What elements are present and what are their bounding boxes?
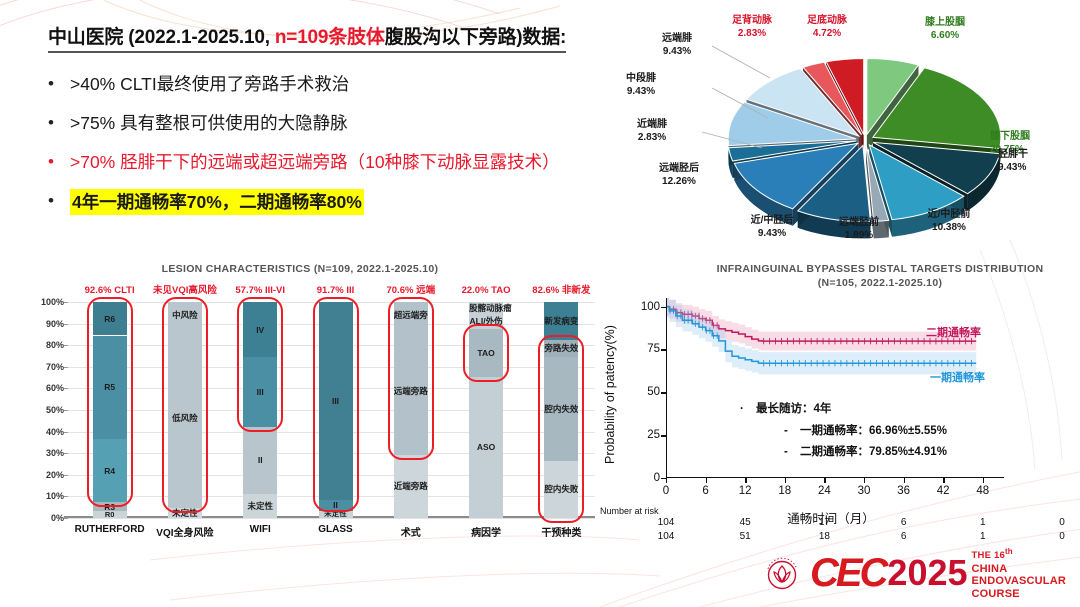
- bar-segment-label: III: [319, 396, 353, 406]
- axis-tick: [64, 432, 68, 433]
- km-x-tick: 42: [937, 485, 950, 497]
- km-y-axis-title: Probability of patency(%): [602, 300, 618, 490]
- lesion-characteristics-bar-chart: 100%90%80%70%60%50%40%30%20%10%0% 92.6% …: [30, 288, 595, 550]
- bar-chart-x-tick: 病因学: [471, 524, 501, 539]
- bar-chart-x-tick: 干预种类: [541, 524, 581, 539]
- pie-label-胫腓干: 胫腓干9.43%: [998, 148, 1068, 174]
- bullet-text-highlighted: 4年一期通畅率70%，二期通畅率80%: [70, 189, 364, 215]
- bar-top-label: 92.6% CLTI: [85, 285, 135, 296]
- bar-segment: III: [319, 302, 353, 500]
- bullet-text: >70% 胫腓干下的远端或超远端旁路（10种膝下动脉显露技术）: [70, 150, 560, 174]
- bar-segment: 腔内失败: [544, 461, 578, 518]
- bar-segment: 未定性: [168, 508, 202, 518]
- bar-chart-y-tick: 0%: [30, 513, 64, 523]
- bar-segment: II: [319, 500, 353, 511]
- km-x-tick: 24: [818, 485, 831, 497]
- km-x-tickmark: [983, 478, 984, 483]
- bar-chart-x-tick: VQI全身风险: [156, 524, 213, 539]
- number-at-risk-cell: 1: [980, 531, 986, 542]
- bar-segment-label: 低风险: [168, 413, 202, 423]
- km-y-tickmark: [661, 307, 666, 308]
- bar-segment: ASO: [469, 377, 503, 518]
- cec-logo: CEC 2025 THE 16th CHINA ENDOVASCULAR COU…: [760, 547, 1066, 599]
- bar-segment: R6: [93, 302, 127, 335]
- number-at-risk-cell: 0: [1059, 531, 1065, 542]
- bar-top-label: 22.0% TAO: [462, 285, 511, 296]
- logo-year: 2025: [887, 553, 967, 593]
- axis-tick: [64, 367, 68, 368]
- pie-label-name: 膝上股腘: [925, 17, 965, 28]
- bar-chart-y-tick: 50%: [30, 405, 64, 415]
- bar-segment: TAO: [469, 329, 503, 377]
- lotus-emblem-icon: [760, 551, 804, 595]
- bar-top-label: 57.7% III-VI: [235, 285, 285, 296]
- km-annotation-line2: -一期通畅率：66.96%±5.55%: [740, 422, 947, 438]
- bar-chart-y-tick: 10%: [30, 491, 64, 501]
- km-x-tickmark: [904, 478, 905, 483]
- km-y-tick: 100: [641, 301, 660, 313]
- pie-label-name: 膝下股腘: [990, 131, 1030, 142]
- km-legend-secondary: 二期通畅率: [926, 324, 981, 340]
- bar-segment-label: 腔内失败: [544, 484, 578, 494]
- axis-tick: [64, 496, 68, 497]
- bar-segment-label: II: [243, 455, 277, 465]
- bar-segment-label: II: [319, 500, 353, 510]
- bar-segment: 新发病变: [544, 302, 578, 340]
- bar-chart-plot-area: 92.6% CLTIR0R3R4R5R6未见VQI高风险未定性低风险中风险57.…: [68, 302, 595, 518]
- pie-label-远端胫前: 远端胫前1.89%: [822, 216, 896, 242]
- number-at-risk-title: Number at risk: [600, 506, 659, 516]
- bar-segment-label: 新发病变: [544, 316, 578, 326]
- bar-segment: 腔内失效: [544, 357, 578, 461]
- bar-segment-label: IV: [243, 325, 277, 335]
- bar-segment-label: 腔内失效: [544, 404, 578, 414]
- bar-chart-y-tick: 90%: [30, 319, 64, 329]
- pie-label-percent: 6.60%: [905, 29, 985, 42]
- bar-segment: R4: [93, 439, 127, 502]
- bullet-marker: •: [48, 72, 70, 96]
- bar-segment: 股髂动脉瘤: [469, 302, 503, 314]
- number-at-risk-cell: 51: [740, 531, 751, 542]
- pie-label-percent: 10.38%: [908, 221, 990, 234]
- bar-chart-x-axis-labels: RUTHERFORDVQI全身风险WIFIGLASS术式病因学干预种类: [68, 524, 595, 544]
- list-item: • >40% CLTI最终使用了旁路手术救治: [48, 72, 668, 96]
- logo-line2: ENDOVASCULAR: [972, 575, 1066, 588]
- list-item: • >75% 具有整根可供使用的大隐静脉: [48, 111, 668, 135]
- bar-chart-y-tick: 60%: [30, 383, 64, 393]
- bar-segment: 近端旁路: [394, 455, 428, 519]
- pie-label-percent: 4.72%: [790, 27, 864, 40]
- pie-caption-line1: INFRAINGUINAL BYPASSES DISTAL TARGETS DI…: [690, 262, 1070, 276]
- km-y-tick: 75: [647, 343, 660, 355]
- bar-chart-caption: LESION CHARACTERISTICS (N=109, 2022.1-20…: [120, 262, 480, 276]
- bar-segment-label: R5: [93, 382, 127, 392]
- km-y-tickmark: [661, 435, 666, 436]
- km-y-axis-line: [666, 298, 667, 478]
- number-at-risk-cell: 18: [819, 531, 830, 542]
- list-item: • 4年一期通畅率70%，二期通畅率80%: [48, 189, 668, 215]
- bar-chart-y-tick: 20%: [30, 470, 64, 480]
- bar-chart-y-tick: 100%: [30, 297, 64, 307]
- logo-subtitle: THE 16th CHINA ENDOVASCULAR COURSE: [972, 546, 1066, 600]
- bar-segment: R5: [93, 336, 127, 440]
- bar-segment-label: 远端旁路: [394, 386, 428, 396]
- bar-column-VQI全身风险: 未见VQI高风险未定性低风险中风险: [168, 302, 202, 518]
- number-at-risk-cell: 104: [658, 517, 675, 528]
- km-y-tick: 50: [647, 386, 660, 398]
- km-annotation: ·最长随访：4年 -一期通畅率：66.96%±5.55% -二期通畅率：79.8…: [740, 400, 947, 464]
- bar-top-label: 未见VQI高风险: [153, 282, 217, 296]
- pie-label-近/中胫前: 近/中胫前10.38%: [908, 208, 990, 234]
- pie-label-足底动脉: 足底动脉4.72%: [790, 14, 864, 40]
- km-x-tick: 6: [702, 485, 708, 497]
- pie-label-name: 胫腓干: [998, 149, 1028, 160]
- bar-column-术式: 70.6% 远端近端旁路远端旁路超远端旁路: [394, 302, 428, 518]
- bar-column-WIFI: 57.7% III-VI未定性IIIIIIV: [243, 302, 277, 518]
- bar-chart-x-tick: GLASS: [318, 524, 352, 535]
- pie-label-name: 远端腓: [662, 33, 692, 44]
- km-x-tickmark: [824, 478, 825, 483]
- bar-segment-label: 股髂动脉瘤: [469, 303, 503, 313]
- bar-column-RUTHERFORD: 92.6% CLTIR0R3R4R5R6: [93, 302, 127, 518]
- number-at-risk-cell: 17: [819, 517, 830, 528]
- table-row: 1045118610: [600, 531, 1070, 543]
- logo-edition: THE 16th: [972, 546, 1066, 563]
- bullet-marker: •: [48, 111, 70, 135]
- bar-segment: 远端旁路: [394, 328, 428, 455]
- pie-label-percent: 9.43%: [730, 227, 814, 240]
- bar-segment-label: 未定性: [168, 508, 202, 518]
- bar-segment: IV: [243, 302, 277, 357]
- patency-km-curve: Probability of patency(%) 02550751000612…: [600, 288, 1070, 588]
- bar-segment-label: ALI/外伤: [469, 316, 503, 326]
- pie-label-percent: 1.89%: [822, 229, 896, 242]
- number-at-risk-cell: 0: [1059, 517, 1065, 528]
- distal-targets-pie-chart: 膝上股腘6.60%膝下股腘20.75%胫腓干9.43%近/中胫前10.38%远端…: [650, 0, 1080, 262]
- logo-line3: COURSE: [972, 588, 1066, 601]
- bar-segment-label: R4: [93, 466, 127, 476]
- pie-label-name: 足底动脉: [807, 15, 847, 26]
- axis-tick: [64, 302, 68, 303]
- bar-chart-y-tick: 30%: [30, 448, 64, 458]
- bar-segment: 旁路失效: [544, 340, 578, 357]
- number-at-risk-cell: 6: [901, 517, 907, 528]
- number-at-risk-cell: 6: [901, 531, 907, 542]
- title-part-1: 中山医院 (2022.1-2025.10,: [48, 27, 275, 48]
- pie-label-name: 近/中胫前: [928, 209, 971, 220]
- bar-segment: R3: [93, 502, 127, 511]
- km-x-tickmark: [745, 478, 746, 483]
- bar-segment-label: 中风险: [168, 310, 202, 320]
- bullet-text: >75% 具有整根可供使用的大隐静脉: [70, 111, 348, 135]
- title-part-highlight: n=109条肢体: [275, 27, 385, 48]
- bar-top-label: 70.6% 远端: [386, 282, 435, 296]
- bar-chart-y-tick: 70%: [30, 362, 64, 372]
- km-x-tick: 36: [897, 485, 910, 497]
- bullet-list: • >40% CLTI最终使用了旁路手术救治 • >75% 具有整根可供使用的大…: [48, 72, 668, 230]
- bar-segment-label: ASO: [469, 442, 503, 452]
- pie-caption-line2: (N=105, 2022.1-2025.10): [690, 276, 1070, 290]
- bar-segment: III: [243, 357, 277, 427]
- km-x-tick: 0: [663, 485, 669, 497]
- km-x-tickmark: [706, 478, 707, 483]
- title-part-3: 腹股沟以下旁路)数据:: [385, 27, 566, 48]
- bar-chart-y-axis: 100%90%80%70%60%50%40%30%20%10%0%: [30, 302, 64, 518]
- km-x-tickmark: [943, 478, 944, 483]
- pie-label-percent: 9.43%: [998, 161, 1068, 174]
- bar-segment-label: 超远端旁路: [394, 310, 428, 320]
- bar-segment-label: R3: [93, 502, 127, 512]
- km-y-tick: 25: [647, 429, 660, 441]
- bar-segment: 中风险: [168, 302, 202, 328]
- pie-leader-line: [712, 46, 770, 78]
- bar-top-label: 91.7% III: [317, 285, 355, 296]
- axis-tick: [64, 410, 68, 411]
- bullet-marker: •: [48, 189, 70, 213]
- km-y-tickmark: [661, 392, 666, 393]
- axis-tick: [64, 475, 68, 476]
- number-at-risk-cell: 45: [740, 517, 751, 528]
- number-at-risk-cell: 104: [658, 531, 675, 542]
- axis-tick: [64, 345, 68, 346]
- axis-tick: [64, 388, 68, 389]
- bar-segment-label: 旁路失效: [544, 343, 578, 353]
- km-x-tick: 12: [739, 485, 752, 497]
- bar-segment: II: [243, 427, 277, 495]
- page-title: 中山医院 (2022.1-2025.10, n=109条肢体腹股沟以下旁路)数据…: [48, 22, 566, 53]
- table-row: 1044517610: [600, 517, 1070, 529]
- bullet-text: >40% CLTI最终使用了旁路手术救治: [70, 72, 349, 96]
- bar-segment: ALI/外伤: [469, 314, 503, 329]
- bar-chart-x-tick: RUTHERFORD: [75, 524, 145, 535]
- logo-line1: CHINA: [972, 563, 1066, 576]
- bar-segment: 超远端旁路: [394, 302, 428, 328]
- bar-top-label: 82.6% 非新发: [532, 282, 590, 296]
- bar-segment-label: 未定性: [243, 501, 277, 511]
- km-annotation-line3: -二期通畅率：79.85%±4.91%: [740, 443, 947, 459]
- bar-segment: 未定性: [319, 511, 353, 518]
- bar-segment-label: 未定性: [319, 509, 353, 519]
- list-item: • >70% 胫腓干下的远端或超远端旁路（10种膝下动脉显露技术）: [48, 150, 668, 174]
- bar-column-干预种类: 82.6% 非新发腔内失败腔内失效旁路失效新发病变: [544, 302, 578, 518]
- bar-segment-label: TAO: [469, 348, 503, 358]
- bar-column-GLASS: 91.7% III未定性IIIII: [319, 302, 353, 518]
- km-legend-primary: 一期通畅率: [930, 369, 985, 385]
- pie-label-膝上股腘: 膝上股腘6.60%: [905, 16, 985, 42]
- km-x-tickmark: [864, 478, 865, 483]
- bar-column-病因学: 22.0% TAOASOTAOALI/外伤股髂动脉瘤: [469, 302, 503, 518]
- km-x-axis-line: [666, 477, 1004, 478]
- km-y-tick: 0: [654, 472, 660, 484]
- logo-brand: CEC: [810, 553, 885, 593]
- pie-label-percent: 2.83%: [715, 27, 789, 40]
- pie-label-name: 近/中胫后: [751, 215, 794, 226]
- bar-chart-x-tick: WIFI: [250, 524, 271, 535]
- km-y-tickmark: [661, 349, 666, 350]
- km-x-tick: 48: [976, 485, 989, 497]
- pie-label-name: 足背动脉: [732, 15, 772, 26]
- bar-chart-y-tick: 80%: [30, 340, 64, 350]
- bar-segment: 低风险: [168, 328, 202, 508]
- pie-label-足背动脉: 足背动脉2.83%: [715, 14, 789, 40]
- bar-chart-y-tick: 40%: [30, 427, 64, 437]
- km-annotation-line1: ·最长随访：4年: [740, 400, 947, 416]
- km-x-tickmark: [785, 478, 786, 483]
- bullet-marker: •: [48, 150, 70, 174]
- bar-segment: 未定性: [243, 494, 277, 518]
- bar-segment-label: R6: [93, 314, 127, 324]
- pie-label-远端腓: 远端腓9.43%: [642, 32, 712, 58]
- pie-label-近/中胫后: 近/中胫后9.43%: [730, 214, 814, 240]
- bar-segment-label: III: [243, 387, 277, 397]
- bar-segment-label: 近端旁路: [394, 481, 428, 491]
- pie-label-name: 远端胫前: [839, 217, 879, 228]
- km-x-tick: 30: [858, 485, 871, 497]
- axis-tick: [64, 324, 68, 325]
- axis-tick: [64, 518, 68, 519]
- pie-chart-caption: INFRAINGUINAL BYPASSES DISTAL TARGETS DI…: [690, 262, 1070, 290]
- km-x-tickmark: [666, 478, 667, 483]
- bar-chart-x-tick: 术式: [401, 524, 421, 539]
- km-x-tick: 18: [778, 485, 791, 497]
- pie-label-percent: 9.43%: [642, 45, 712, 58]
- number-at-risk-cell: 1: [980, 517, 986, 528]
- axis-tick: [64, 453, 68, 454]
- bar-segment: R0: [93, 511, 127, 518]
